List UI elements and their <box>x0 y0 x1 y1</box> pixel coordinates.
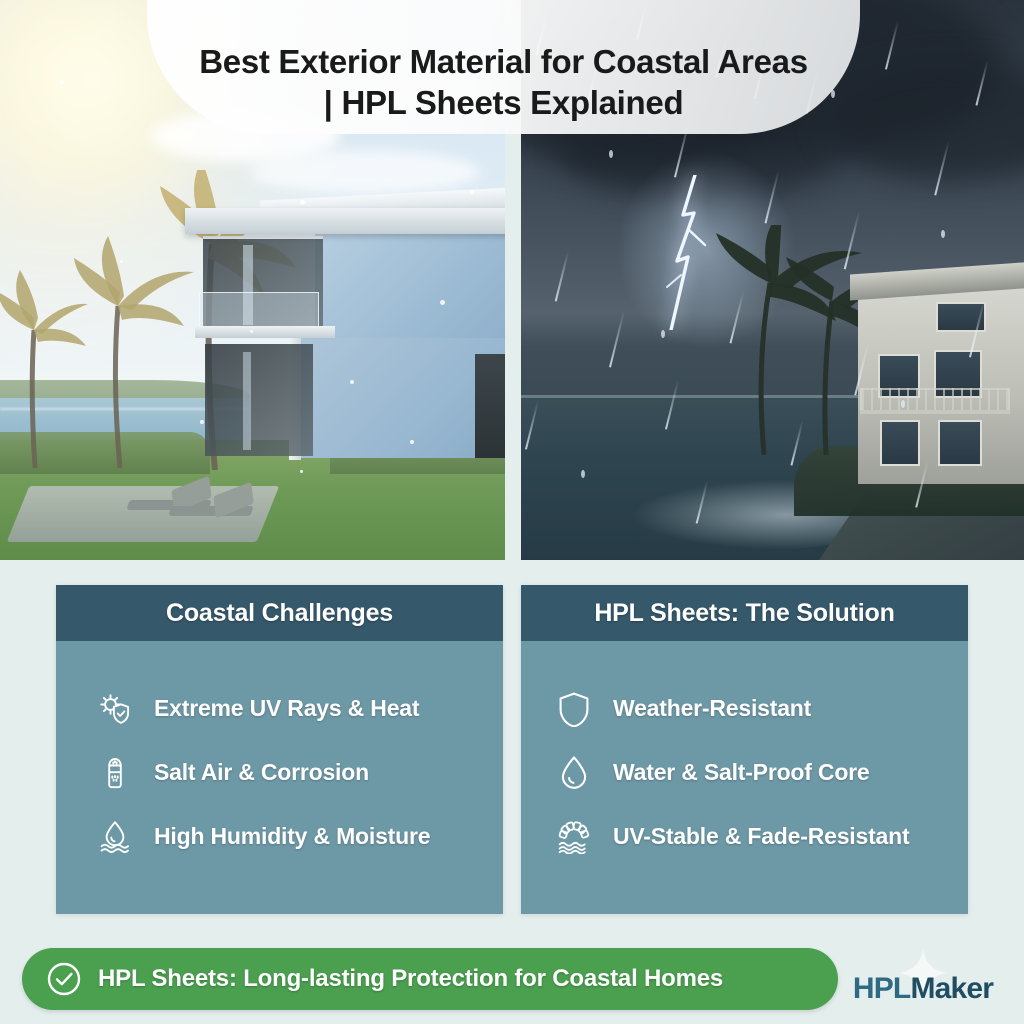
panel-heading-challenges: Coastal Challenges <box>56 585 503 641</box>
storm-house-window <box>938 420 982 466</box>
list-item: Water & Salt-Proof Core <box>555 754 942 792</box>
storm-house-window <box>880 420 920 466</box>
house-roof-eave <box>185 208 505 234</box>
panel-body-challenges: Extreme UV Rays & Heat Salt Air & Corros… <box>56 641 503 914</box>
cta-banner[interactable]: HPL Sheets: Long-lasting Protection for … <box>22 948 838 1010</box>
brand-part-maker: Maker <box>910 972 993 1005</box>
list-item: UV-Stable & Fade-Resistant <box>555 818 942 856</box>
panel-hpl-solution: HPL Sheets: The Solution Weather-Resista… <box>521 585 968 914</box>
modern-house <box>185 164 505 494</box>
house-lower-floor <box>295 338 505 458</box>
list-item-label: UV-Stable & Fade-Resistant <box>613 823 909 850</box>
storm-house <box>830 244 1024 484</box>
panel-heading-solution: HPL Sheets: The Solution <box>521 585 968 641</box>
house-lower-glass <box>205 344 313 456</box>
sun-waves-icon <box>555 818 593 856</box>
brand-part-hpl: HPL <box>853 972 911 1005</box>
brand-wordmark: HPLMaker <box>840 974 1006 1004</box>
list-item-label: Water & Salt-Proof Core <box>613 759 870 786</box>
list-item-label: Salt Air & Corrosion <box>154 759 369 786</box>
panel-body-solution: Weather-Resistant Water & Salt-Proof Cor… <box>521 641 968 914</box>
page-title: Best Exterior Material for Coastal Areas… <box>199 41 808 124</box>
panel-coastal-challenges: Coastal Challenges Extreme UV Rays & Hea… <box>56 585 503 914</box>
storm-house-balcony <box>860 410 1010 414</box>
balcony-slab <box>195 326 335 338</box>
footer: HPL Sheets: Long-lasting Protection for … <box>0 946 1024 1024</box>
shield-icon <box>555 690 593 728</box>
sun-shield-icon <box>96 690 134 728</box>
cta-label: HPL Sheets: Long-lasting Protection for … <box>98 965 723 993</box>
storm-house-balcony-rail <box>860 388 1010 410</box>
list-item: Salt Air & Corrosion <box>96 754 477 792</box>
brand-logo: HPLMaker <box>840 952 1006 1014</box>
list-item-label: High Humidity & Moisture <box>154 823 430 850</box>
salt-shaker-icon <box>96 754 134 792</box>
list-item-label: Weather-Resistant <box>613 695 811 722</box>
list-item: Weather-Resistant <box>555 690 942 728</box>
comparison-panels: Coastal Challenges Extreme UV Rays & Hea… <box>0 585 1024 915</box>
list-item-label: Extreme UV Rays & Heat <box>154 695 419 722</box>
title-line-1: Best Exterior Material for Coastal Areas <box>199 41 808 83</box>
house-door <box>475 354 505 458</box>
title-line-2: | HPL Sheets Explained <box>199 82 808 124</box>
infographic-canvas: Best Exterior Material for Coastal Areas… <box>0 0 1024 1024</box>
water-drop-waves-icon <box>96 818 134 856</box>
water-drop-icon <box>555 754 593 792</box>
house-upper-floor <box>315 230 505 338</box>
list-item: High Humidity & Moisture <box>96 818 477 856</box>
balcony-glass-rail <box>199 292 319 328</box>
list-item: Extreme UV Rays & Heat <box>96 690 477 728</box>
title-banner: Best Exterior Material for Coastal Areas… <box>147 0 860 134</box>
sun-lounger <box>168 506 253 516</box>
storm-house-window <box>936 302 986 332</box>
check-circle-icon <box>46 961 82 997</box>
